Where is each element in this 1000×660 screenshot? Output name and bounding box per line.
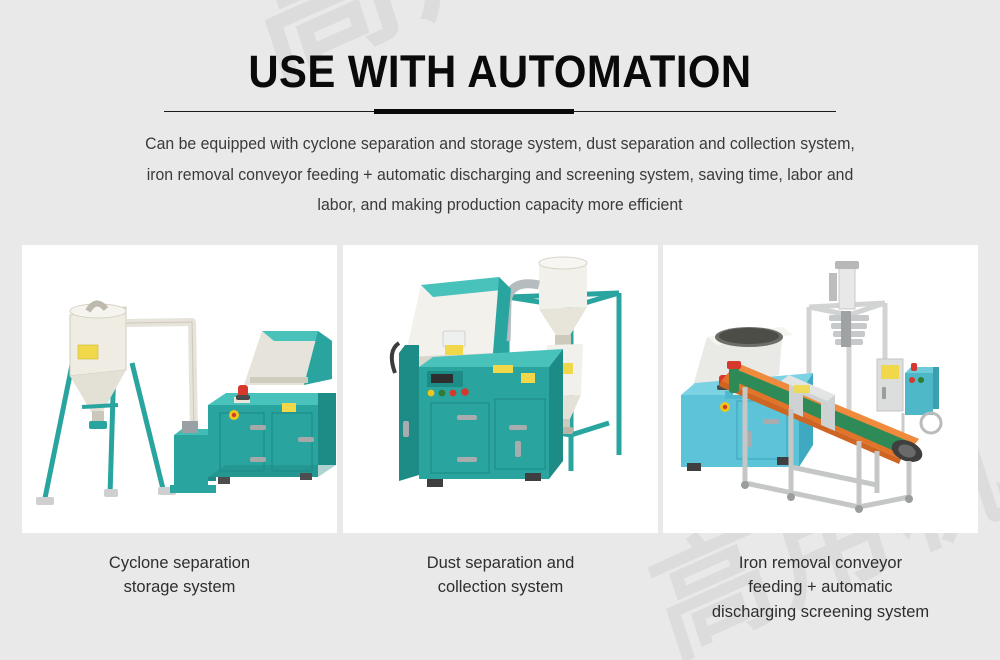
product-photo-conveyor xyxy=(663,245,978,533)
caption-line: collection system xyxy=(347,575,653,600)
title-divider xyxy=(164,109,836,115)
product-card-dust: Dust separation and collection system xyxy=(343,245,658,625)
page-title: USE WITH AUTOMATION xyxy=(35,48,965,95)
caption-line: discharging screening system xyxy=(668,600,974,625)
caption-line: storage system xyxy=(27,575,333,600)
caption-line: feeding + automatic xyxy=(668,575,974,600)
divider-thick-segment xyxy=(374,109,574,114)
product-card-list: Cyclone separation storage system xyxy=(22,245,978,625)
product-card-cyclone: Cyclone separation storage system xyxy=(22,245,337,625)
caption-line: Cyclone separation xyxy=(27,551,333,576)
product-card-conveyor: Iron removal conveyor feeding + automati… xyxy=(663,245,978,625)
product-caption-conveyor: Iron removal conveyor feeding + automati… xyxy=(668,551,974,625)
caption-line: Iron removal conveyor xyxy=(668,551,974,576)
header: USE WITH AUTOMATION Can be equipped with… xyxy=(0,0,1000,221)
page-root: 高用机械 高用机械 USE WITH AUTOMATION Can be equ… xyxy=(0,0,1000,660)
product-photo-cyclone xyxy=(22,245,337,533)
caption-line: Dust separation and xyxy=(347,551,653,576)
product-caption-cyclone: Cyclone separation storage system xyxy=(27,551,333,600)
cyclone-system-illustration xyxy=(22,245,337,533)
product-caption-dust: Dust separation and collection system xyxy=(347,551,653,600)
dust-collection-illustration xyxy=(343,245,658,533)
product-photo-dust xyxy=(343,245,658,533)
conveyor-screening-illustration xyxy=(663,245,978,533)
header-description: Can be equipped with cyclone separation … xyxy=(135,129,865,221)
